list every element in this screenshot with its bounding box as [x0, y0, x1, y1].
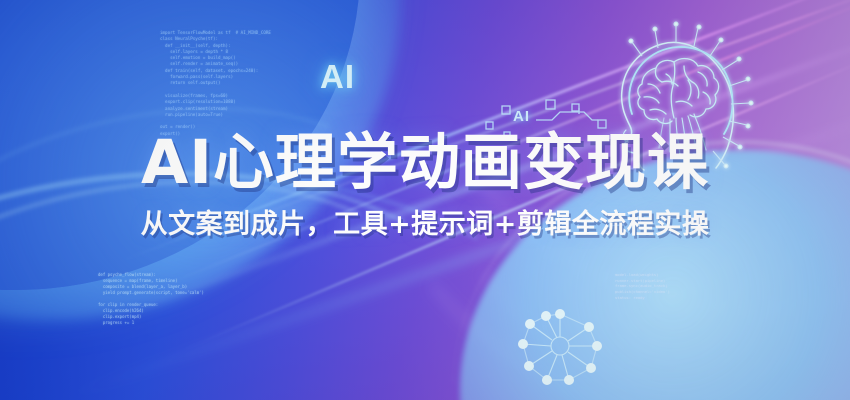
page-title: AI心理学动画变现课 — [0, 132, 850, 193]
code-snippet-bottom-left: def psyche_flow(stream): sequence = map(… — [98, 272, 204, 326]
ai-badge-large: AI — [320, 58, 355, 96]
code-snippet-right: model.load(weights) runner.start(pipelin… — [615, 272, 670, 300]
headline-block: AI心理学动画变现课 从文案到成片，工具+提示词+剪辑全流程实操 — [0, 132, 850, 238]
page-subtitle: 从文案到成片，工具+提示词+剪辑全流程实操 — [0, 211, 850, 238]
ai-badge-small: AI — [513, 108, 530, 125]
course-promo-banner: import TensorFlowModel as tf # AI_MIND_C… — [0, 0, 850, 400]
code-snippet-top-left: import TensorFlowModel as tf # AI_MIND_C… — [160, 30, 271, 137]
network-nodes-icon — [505, 300, 615, 392]
